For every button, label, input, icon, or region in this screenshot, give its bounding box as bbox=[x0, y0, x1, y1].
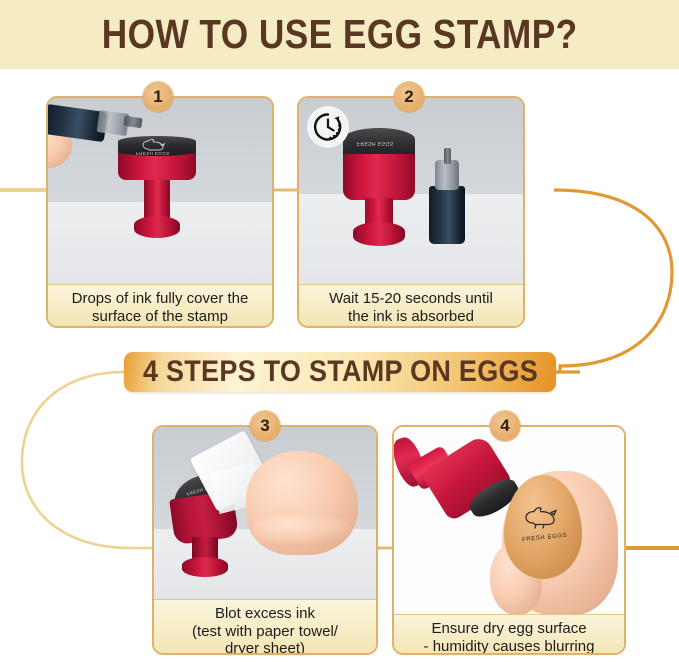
section-banner: 4 STEPS TO STAMP ON EGGS bbox=[124, 352, 556, 392]
scene-blot-ink: FRESH EGGS bbox=[154, 427, 376, 599]
step-caption-2: Wait 15-20 seconds until the ink is abso… bbox=[299, 284, 523, 328]
ink-bottle-tip bbox=[444, 148, 451, 164]
step-panel-3: FRESH EGGS Blot excess ink (test with pa… bbox=[152, 425, 378, 655]
chicken-icon bbox=[140, 138, 174, 152]
scene-stamp-egg: FRESH EGGS bbox=[394, 427, 624, 614]
stamp-foot bbox=[182, 557, 228, 577]
stamp-foot bbox=[353, 222, 405, 246]
caption-line: Drops of ink fully cover the bbox=[52, 290, 268, 308]
section-banner-title: 4 STEPS TO STAMP ON EGGS bbox=[142, 355, 537, 389]
step-badge-4: 4 bbox=[490, 411, 520, 441]
step-photo-3: FRESH EGGS bbox=[154, 427, 376, 599]
step-panel-1: FRESH EGGS Drops of ink fully cover the … bbox=[46, 96, 274, 328]
finger bbox=[254, 513, 352, 547]
caption-line: surface of the stamp bbox=[52, 308, 268, 326]
stamp-body bbox=[343, 154, 415, 200]
connector-arc-right bbox=[554, 190, 672, 372]
step-caption-3: Blot excess ink (test with paper towel/ … bbox=[154, 599, 376, 655]
step-photo-4: FRESH EGGS bbox=[394, 427, 624, 614]
step-panel-2: FRESH EGGS bbox=[297, 96, 525, 328]
caption-line: Blot excess ink bbox=[158, 605, 372, 623]
connector-arc-left bbox=[22, 372, 130, 548]
ink-bottle-nozzle bbox=[435, 160, 459, 190]
step-photo-2: FRESH EGGS bbox=[299, 98, 523, 284]
chicken-icon bbox=[522, 501, 562, 535]
step-badge-2: 2 bbox=[394, 82, 424, 112]
caption-line: Ensure dry egg surface bbox=[398, 620, 620, 638]
stamp-foot bbox=[134, 216, 180, 238]
scene-ink-drip: FRESH EGGS bbox=[48, 98, 272, 284]
stamp-body bbox=[118, 154, 196, 180]
step-caption-1: Drops of ink fully cover the surface of … bbox=[48, 284, 272, 328]
stamp-label-text-1: FRESH EGGS bbox=[136, 151, 170, 156]
step-photo-1: FRESH EGGS bbox=[48, 98, 272, 284]
page-title: HOW TO USE EGG STAMP? bbox=[102, 11, 578, 58]
caption-line: the ink is absorbed bbox=[303, 308, 519, 326]
header-banner: HOW TO USE EGG STAMP? bbox=[0, 0, 679, 69]
caption-line: (test with paper towel/ bbox=[158, 623, 372, 641]
step-panel-4: FRESH EGGS Ensure dry egg surface - humi… bbox=[392, 425, 626, 655]
caption-line: Wait 15-20 seconds until bbox=[303, 290, 519, 308]
caption-line: - humidity causes blurring bbox=[398, 638, 620, 656]
step-caption-4: Ensure dry egg surface - humidity causes… bbox=[394, 614, 624, 655]
ink-bottle bbox=[429, 186, 465, 244]
clock-icon bbox=[307, 106, 349, 148]
caption-line: dryer sheet) bbox=[158, 640, 372, 655]
step-badge-3: 3 bbox=[250, 411, 280, 441]
step-badge-1: 1 bbox=[143, 82, 173, 112]
infographic-root: HOW TO USE EGG STAMP? 1 bbox=[0, 0, 679, 662]
stamp-label-text-2: FRESH EGGS bbox=[357, 140, 394, 146]
